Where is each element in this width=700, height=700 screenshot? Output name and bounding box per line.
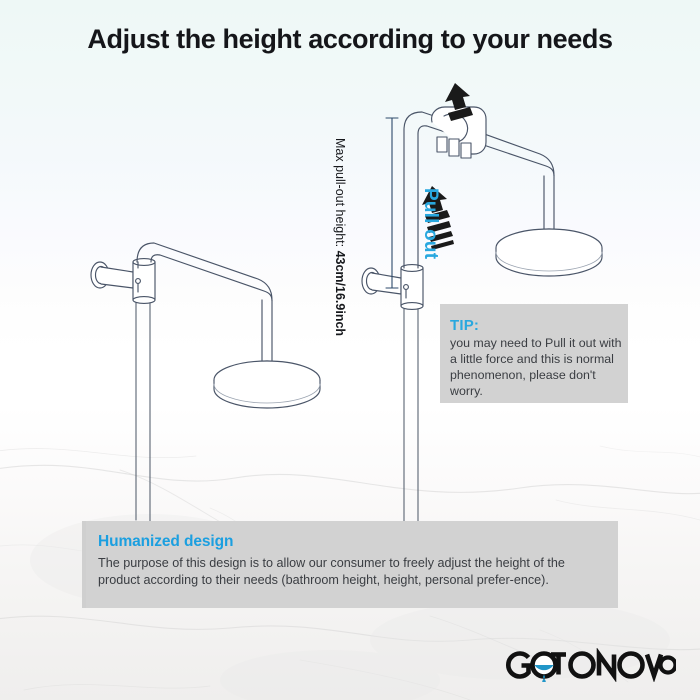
water-drop-o-icon [533,654,556,683]
brand-logo [504,648,676,682]
panel-accent-bar [82,521,86,608]
arrow-up-top [445,83,473,121]
tip-panel: TIP: you may need to Pull it out with a … [440,304,628,403]
pull-out-label: Pull out [419,188,441,259]
humanized-body: The purpose of this design is to allow o… [98,555,606,589]
dimension-value: 43cm/16.9inch [333,251,347,336]
dimension-line [386,118,398,288]
infographic-page: Adjust the height according to your need… [0,0,700,700]
humanized-heading: Humanized design [98,533,233,551]
tip-heading: TIP: [450,317,479,334]
tip-body: you may need to Pull it out with a littl… [450,336,622,400]
max-pullout-height-label: Max pull-out height: 43cm/16.9inch [334,138,347,318]
dimension-prefix: Max pull-out height: [333,138,347,247]
shower-left [91,243,320,524]
humanized-design-panel: Humanized design The purpose of this des… [82,521,618,608]
